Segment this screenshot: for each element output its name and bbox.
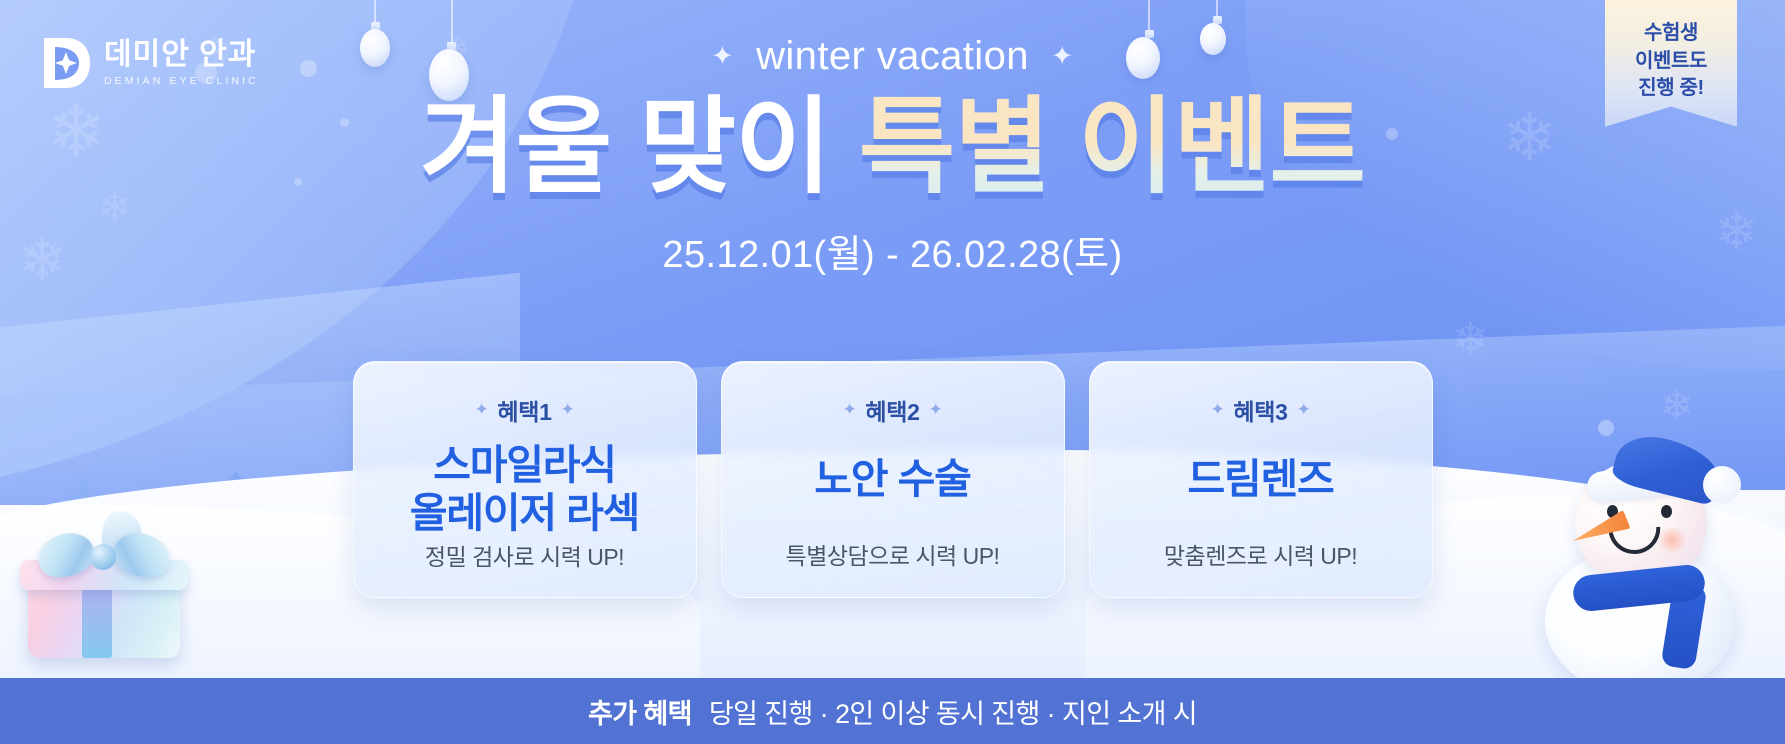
- eyebrow-text: winter vacation: [756, 34, 1029, 79]
- card-tag: ✦ 혜택1 ✦: [474, 393, 574, 427]
- sparkle-icon: ✦: [1051, 43, 1074, 70]
- gift-box-icon: [18, 518, 193, 658]
- card-tag-label: 혜택1: [497, 393, 551, 427]
- card-subtitle: 정밀 검사로 시력 UP!: [425, 538, 624, 572]
- eyebrow-row: ✦ winter vacation ✦: [0, 34, 1785, 79]
- winter-event-banner: ❄ ❄ ❄ ❄ ❄ ❄ ❄ ❄ ❄: [0, 0, 1785, 744]
- benefit-card-1[interactable]: ✦ 혜택1 ✦ 스마일라식 올레이저 라섹 정밀 검사로 시력 UP!: [353, 361, 697, 598]
- footer-bar: 추가 혜택 당일 진행 · 2인 이상 동시 진행 · 지인 소개 시: [0, 678, 1785, 744]
- sparkle-icon: ✦: [474, 400, 488, 420]
- page-title: 겨울 맞이 특별 이벤트: [0, 89, 1785, 207]
- sparkle-icon: ✦: [561, 400, 575, 420]
- title-part-gradient: 특별 이벤트: [859, 89, 1365, 206]
- card-title: 드림렌즈: [1187, 456, 1333, 504]
- benefit-card-list: ✦ 혜택1 ✦ 스마일라식 올레이저 라섹 정밀 검사로 시력 UP! ✦ 혜택…: [0, 361, 1785, 598]
- event-period: 25.12.01(월) - 26.02.28(토): [0, 223, 1785, 278]
- footer-label: 추가 혜택: [588, 692, 692, 731]
- sparkle-icon: ✦: [711, 43, 734, 70]
- sparkle-icon: ✦: [842, 400, 856, 420]
- snowflake-icon: ❄: [1452, 318, 1489, 362]
- card-title: 스마일라식 올레이저 라섹: [410, 442, 639, 538]
- card-subtitle: 맞춤렌즈로 시력 UP!: [1164, 537, 1357, 571]
- card-tag-label: 혜택2: [865, 393, 919, 427]
- sparkle-icon: ✦: [1297, 400, 1311, 420]
- snowman-icon: [1527, 450, 1757, 680]
- card-tag-label: 혜택3: [1233, 393, 1287, 427]
- card-subtitle: 특별상담으로 시력 UP!: [786, 537, 1000, 571]
- sparkle-icon: ✦: [1210, 400, 1224, 420]
- card-title: 노안 수술: [814, 456, 970, 504]
- sparkle-icon: ✦: [929, 400, 943, 420]
- ribbon-line-2: 이벤트도: [1613, 48, 1729, 76]
- benefit-card-2[interactable]: ✦ 혜택2 ✦ 노안 수술 특별상담으로 시력 UP!: [721, 361, 1065, 598]
- benefit-card-3[interactable]: ✦ 혜택3 ✦ 드림렌즈 맞춤렌즈로 시력 UP!: [1089, 361, 1433, 598]
- ribbon-line-3: 진행 중!: [1613, 75, 1729, 103]
- card-tag: ✦ 혜택2 ✦: [842, 393, 942, 427]
- card-tag: ✦ 혜택3 ✦: [1210, 393, 1310, 427]
- header-block: ✦ winter vacation ✦ 겨울 맞이 특별 이벤트 25.12.0…: [0, 34, 1785, 278]
- footer-text: 당일 진행 · 2인 이상 동시 진행 · 지인 소개 시: [709, 692, 1197, 731]
- title-part-white: 겨울 맞이: [420, 89, 831, 206]
- ribbon-line-1: 수험생: [1613, 20, 1729, 48]
